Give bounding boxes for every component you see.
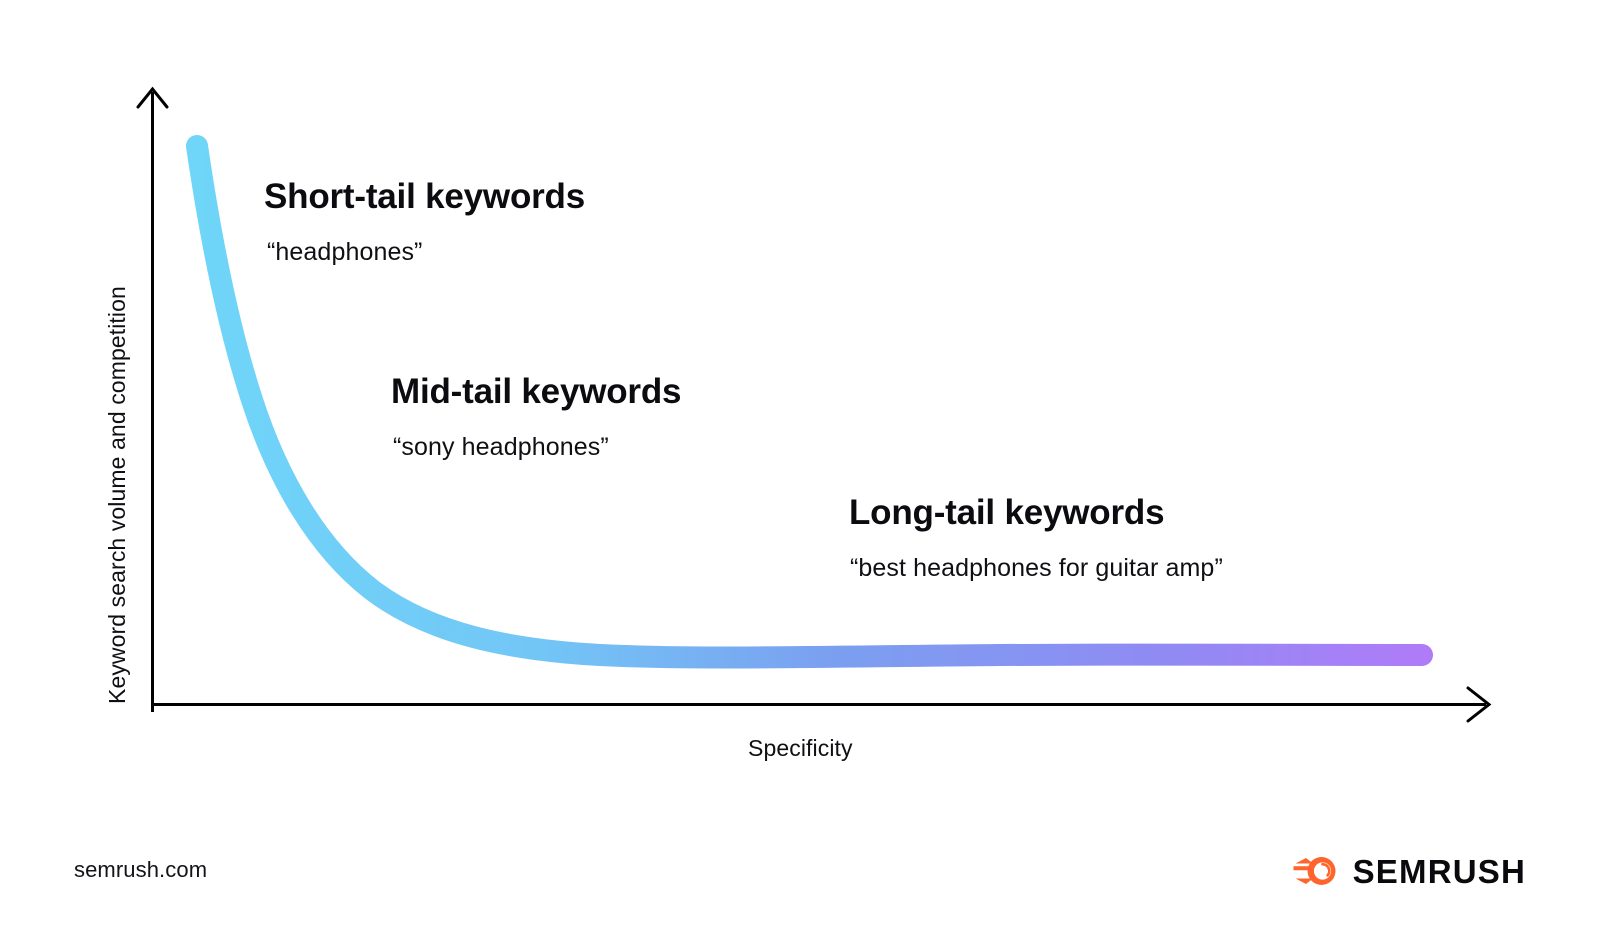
- x-axis-title: Specificity: [748, 735, 853, 762]
- annotation-short-tail-heading: Short-tail keywords: [264, 178, 585, 217]
- source-url-label: semrush.com: [74, 857, 207, 883]
- annotation-mid-tail: Mid-tail keywords “sony headphones”: [391, 373, 681, 461]
- annotation-long-tail-example: “best headphones for guitar amp”: [850, 555, 1223, 583]
- annotation-long-tail-heading: Long-tail keywords: [849, 494, 1223, 533]
- keyword-demand-curve-chart: [0, 0, 1600, 933]
- annotation-short-tail-example: “headphones”: [267, 239, 585, 267]
- infographic-canvas: Keyword search volume and competition Sp…: [0, 0, 1600, 933]
- semrush-wordmark: SEMRUSH: [1353, 855, 1526, 888]
- y-axis-title: Keyword search volume and competition: [104, 286, 131, 704]
- y-axis-arrowhead: [138, 89, 167, 107]
- annotation-long-tail: Long-tail keywords “best headphones for …: [849, 494, 1223, 582]
- annotation-mid-tail-heading: Mid-tail keywords: [391, 373, 681, 412]
- annotation-short-tail: Short-tail keywords “headphones”: [264, 178, 585, 266]
- x-axis-arrowhead: [1468, 688, 1489, 721]
- semrush-logo: SEMRUSH: [1293, 852, 1526, 890]
- semrush-comet-icon: [1293, 854, 1339, 888]
- annotation-mid-tail-example: “sony headphones”: [393, 434, 681, 462]
